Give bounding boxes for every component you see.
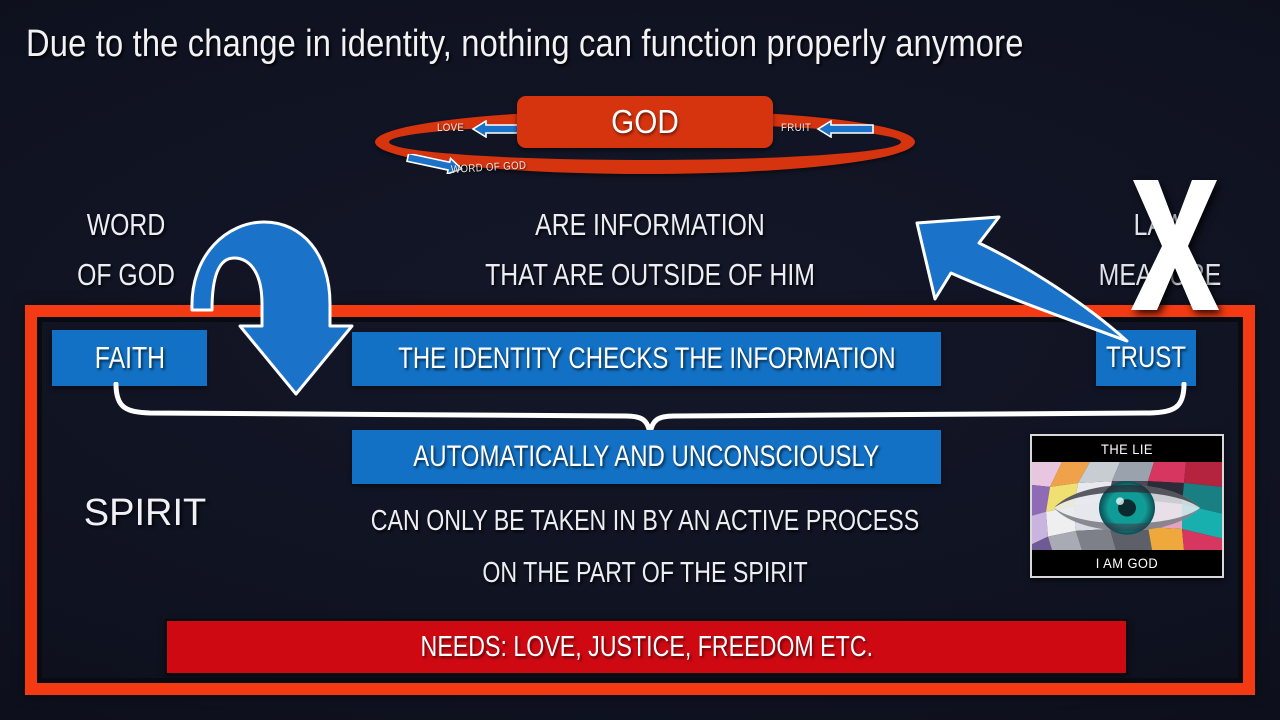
box-automatically-label: AUTOMATICALLY AND UNCONSCIOUSLY bbox=[414, 440, 880, 474]
needs-bar-label: NEEDS: LOVE, JUSTICE, FREEDOM ETC. bbox=[420, 631, 872, 664]
box-identity-checks[interactable]: THE IDENTITY CHECKS THE INFORMATION bbox=[352, 332, 941, 386]
box-faith-label: FAITH bbox=[94, 340, 164, 376]
x-cross-icon bbox=[1125, 180, 1225, 310]
information-statement: ARE INFORMATION THAT ARE OUTSIDE OF HIM bbox=[400, 200, 900, 300]
box-identity-label: THE IDENTITY CHECKS THE INFORMATION bbox=[398, 342, 895, 376]
word-of-god-line1: WORD bbox=[46, 200, 206, 250]
lie-card[interactable]: THE LIE bbox=[1030, 434, 1224, 578]
low-poly-eye-image bbox=[1032, 462, 1222, 550]
word-of-god-label: WORD OF GOD bbox=[26, 200, 226, 300]
lie-card-bottom-caption: I AM GOD bbox=[1040, 550, 1215, 576]
god-box: GOD bbox=[517, 96, 773, 148]
information-line1: ARE INFORMATION bbox=[450, 200, 850, 250]
body-line1: CAN ONLY BE TAKEN IN BY AN ACTIVE PROCES… bbox=[369, 495, 921, 547]
box-faith[interactable]: FAITH bbox=[52, 330, 207, 386]
box-trust-label: TRUST bbox=[1106, 341, 1186, 375]
page-title: Due to the change in identity, nothing c… bbox=[26, 22, 1084, 66]
god-diagram: GOD LOVE FRUIT WORD OF GOD bbox=[375, 96, 915, 176]
information-line2: THAT ARE OUTSIDE OF HIM bbox=[450, 250, 850, 300]
lie-card-top-caption: THE LIE bbox=[1040, 436, 1215, 462]
ring-label-love: LOVE bbox=[437, 122, 464, 134]
ring-label-fruit: FRUIT bbox=[781, 122, 811, 134]
box-trust[interactable]: TRUST bbox=[1096, 330, 1196, 386]
god-label: GOD bbox=[530, 96, 760, 148]
curly-brace-icon bbox=[110, 382, 1190, 437]
word-of-god-line2: OF GOD bbox=[46, 250, 206, 300]
needs-bar[interactable]: NEEDS: LOVE, JUSTICE, FREEDOM ETC. bbox=[165, 619, 1128, 675]
box-automatically[interactable]: AUTOMATICALLY AND UNCONSCIOUSLY bbox=[352, 430, 941, 484]
slide-canvas: Due to the change in identity, nothing c… bbox=[0, 0, 1280, 720]
spirit-text: SPIRIT bbox=[84, 492, 206, 534]
spirit-label: SPIRIT bbox=[45, 492, 245, 535]
spirit-body-text: CAN ONLY BE TAKEN IN BY AN ACTIVE PROCES… bbox=[300, 495, 990, 599]
body-line2: ON THE PART OF THE SPIRIT bbox=[369, 547, 921, 599]
